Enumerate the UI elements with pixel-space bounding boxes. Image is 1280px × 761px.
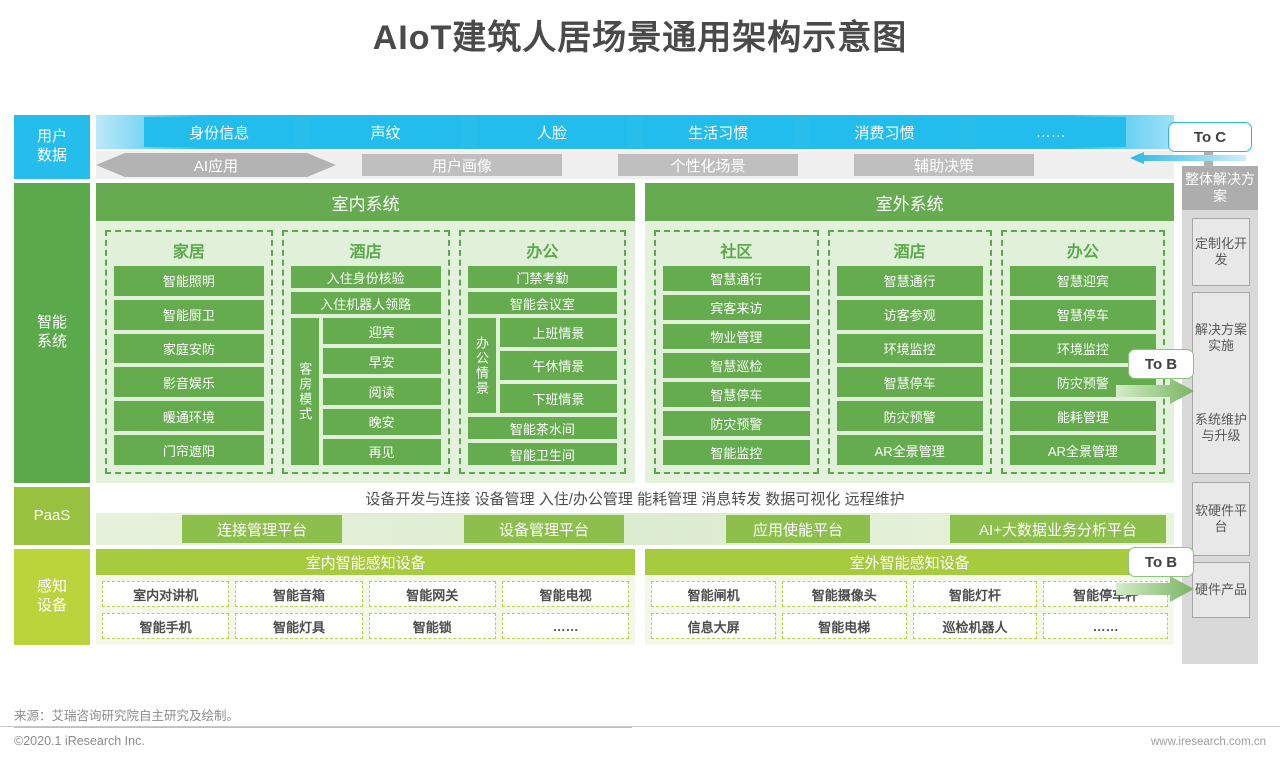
scenario-mode-label: 客房模式 [291,318,319,465]
solution-hardware-software-platform: 软硬件平台 [1192,482,1250,556]
rail-sys-line1: 智能 [37,314,67,333]
smart-system-group: 室内系统家居智能照明智能厨卫家庭安防影音娱乐暖通环境门帘遮阳酒店入住身份核验入住… [96,183,635,483]
user-data-chip: 声纹 [310,117,460,147]
sensing-group-header: 室内智能感知设备 [96,549,635,575]
scenario-item: 入住身份核验 [291,266,441,288]
scenario-title: 办公 [468,236,618,266]
sensing-device: 室内对讲机 [102,581,229,607]
sensing-device: 智能摄像头 [782,581,907,607]
rail-sys-line2: 系统 [37,333,67,352]
to-b-upper-badge[interactable]: To B [1128,349,1194,379]
scenario-mode-item: 早安 [323,348,441,374]
rail-sense-line1: 感知 [37,578,67,597]
scenario-item: 智能厨卫 [114,300,264,330]
scenario-box: 酒店智慧通行访客参观环境监控智慧停车防灾预警AR全景管理 [828,230,992,474]
to-b-upper-arrow-icon [1116,378,1194,404]
scenario-item: 能耗管理 [1010,401,1156,431]
sensing-device: 智能音箱 [235,581,362,607]
paas-platform: 应用使能平台 [726,515,870,543]
sensing-device: 智能电梯 [782,613,907,639]
scenario-mode-item: 阅读 [323,378,441,404]
sensing-device: 智能灯杆 [913,581,1038,607]
scenario-mode-item-list: 迎宾早安阅读晚安再见 [323,318,441,465]
layer-rail-sensing: 感知 设备 [14,549,90,645]
sensing-device-layer: 室内智能感知设备室内对讲机智能音箱智能网关智能电视智能手机智能灯具智能锁……室外… [96,549,1174,645]
solution-implementation: 解决方案实施 [1193,293,1249,383]
scenario-mode-row: 客房模式迎宾早安阅读晚安再见 [291,318,441,465]
user-data-chip: 消费习惯 [809,117,959,147]
sensing-device: 智能锁 [369,613,496,639]
ai-application-diamond: AI应用 [96,153,336,177]
scenario-mode-item: 午休情景 [500,351,618,380]
user-data-chip: 生活习惯 [643,117,793,147]
scenario-box: 家居智能照明智能厨卫家庭安防影音娱乐暖通环境门帘遮阳 [105,230,273,474]
scenario-item: AR全景管理 [1010,435,1156,465]
smart-system-group-body: 家居智能照明智能厨卫家庭安防影音娱乐暖通环境门帘遮阳酒店入住身份核验入住机器人领… [96,221,635,483]
to-b-upper-label: To B [1145,356,1177,373]
scenario-mode-row: 办公情景上班情景午休情景下班情景 [468,318,618,413]
scenario-item: 家庭安防 [114,334,264,364]
rail-user-line1: 用户 [37,128,67,147]
smart-system-group-header: 室外系统 [645,183,1174,221]
sensing-device-grid: 智能闸机智能摄像头智能灯杆智能停车杆信息大屏智能电梯巡检机器人…… [645,575,1174,645]
sensing-device-grid: 室内对讲机智能音箱智能网关智能电视智能手机智能灯具智能锁…… [96,575,635,645]
sensing-device: …… [1043,613,1168,639]
scenario-item: 智慧停车 [837,367,983,397]
scenario-item: 入住机器人领路 [291,292,441,314]
scenario-item: 环境监控 [837,334,983,364]
scenario-box: 社区智慧通行宾客来访物业管理智慧巡检智慧停车防灾预警智能监控 [654,230,818,474]
solution-custom-development: 定制化开发 [1192,218,1250,286]
page-title: AIoT建筑人居场景通用架构示意图 [0,10,1280,59]
scenario-item: 影音娱乐 [114,367,264,397]
layer-rail-user-data: 用户 数据 [14,115,90,179]
paas-platform: AI+大数据业务分析平台 [950,515,1166,543]
scenario-title: 办公 [1010,236,1156,266]
scenario-mode-item: 上班情景 [500,318,618,347]
scenario-mode-item: 晚安 [323,409,441,435]
scenario-item: AR全景管理 [837,435,983,465]
user-data-chip: …… [976,117,1126,147]
scenario-item: 物业管理 [663,324,809,349]
solution-rail-header: 整体解决方案 [1182,166,1258,210]
layer-rail-smart-system: 智能 系统 [14,183,90,483]
sensing-device: 巡检机器人 [913,613,1038,639]
copyright-text: ©2020.1 iResearch Inc. [14,734,145,748]
scenario-item: 智能卫生间 [468,443,618,465]
scenario-item: 智慧停车 [1010,300,1156,330]
user-data-chip: 人脸 [477,117,627,147]
ai-application-chip: 用户画像 [362,154,562,176]
scenario-item: 门帘遮阳 [114,435,264,465]
architecture-diagram: 用户 数据 智能 系统 PaaS 感知 设备 身份信息声纹人脸生活习惯消费习惯…… [14,115,1174,670]
ai-application-chip: 辅助决策 [854,154,1034,176]
scenario-box: 酒店入住身份核验入住机器人领路客房模式迎宾早安阅读晚安再见 [282,230,450,474]
scenario-item-list: 门禁考勤智能会议室办公情景上班情景午休情景下班情景智能茶水间智能卫生间 [468,266,618,465]
footer-divider [0,726,1280,727]
to-b-lower-arrow-icon [1116,576,1194,602]
scenario-mode-item-list: 上班情景午休情景下班情景 [500,318,618,413]
scenario-title: 酒店 [837,236,983,266]
to-c-label: To C [1194,129,1226,146]
sensing-device: 智能网关 [369,581,496,607]
ai-application-row: AI应用用户画像个性化场景辅助决策 [96,151,1174,179]
scenario-mode-label: 办公情景 [468,318,496,413]
paas-platform: 设备管理平台 [464,515,624,543]
sensing-device: 智能手机 [102,613,229,639]
scenario-item: 宾客来访 [663,295,809,320]
paas-capabilities-text: 设备开发与连接 设备管理 入住/办公管理 能耗管理 消息转发 数据可视化 远程维… [96,487,1174,513]
smart-system-group-body: 社区智慧通行宾客来访物业管理智慧巡检智慧停车防灾预警智能监控酒店智慧通行访客参观… [645,221,1174,483]
to-c-arrow-icon [1130,152,1246,164]
to-c-badge[interactable]: To C [1168,122,1252,152]
scenario-item: 智慧停车 [663,382,809,407]
scenario-item: 智慧通行 [837,266,983,296]
scenario-mode-item: 再见 [323,439,441,465]
scenario-box: 办公门禁考勤智能会议室办公情景上班情景午休情景下班情景智能茶水间智能卫生间 [459,230,627,474]
solution-implementation-group: 解决方案实施 系统维护与升级 [1192,292,1250,474]
sensing-group: 室内智能感知设备室内对讲机智能音箱智能网关智能电视智能手机智能灯具智能锁…… [96,549,635,645]
scenario-item: 智能监控 [663,440,809,465]
source-note: 来源：艾瑞咨询研究院自主研究及绘制。 [14,705,632,728]
scenario-item-list: 智慧通行宾客来访物业管理智慧巡检智慧停车防灾预警智能监控 [663,266,809,465]
smart-system-group: 室外系统社区智慧通行宾客来访物业管理智慧巡检智慧停车防灾预警智能监控酒店智慧通行… [645,183,1174,483]
scenario-item: 门禁考勤 [468,266,618,288]
smart-system-group-header: 室内系统 [96,183,635,221]
scenario-item: 智慧迎宾 [1010,266,1156,296]
sensing-group: 室外智能感知设备智能闸机智能摄像头智能灯杆智能停车杆信息大屏智能电梯巡检机器人…… [645,549,1174,645]
scenario-item: 智慧通行 [663,266,809,291]
paas-platform-list: 连接管理平台设备管理平台应用使能平台AI+大数据业务分析平台 [96,513,1174,545]
scenario-item: 智能茶水间 [468,417,618,439]
scenario-title: 酒店 [291,236,441,266]
smart-system-layer: 室内系统家居智能照明智能厨卫家庭安防影音娱乐暖通环境门帘遮阳酒店入住身份核验入住… [96,183,1174,483]
sensing-device: 智能闸机 [651,581,776,607]
rail-user-line2: 数据 [37,147,67,166]
rail-paas-label: PaaS [34,507,71,526]
sensing-group-header: 室外智能感知设备 [645,549,1174,575]
ai-application-chip: 个性化场景 [618,154,798,176]
scenario-item: 智慧巡检 [663,353,809,378]
user-data-chip: 身份信息 [144,117,294,147]
solution-maintenance: 系统维护与升级 [1193,383,1249,473]
solution-hardware-product: 硬件产品 [1192,562,1250,618]
sensing-device: 信息大屏 [651,613,776,639]
sensing-device: …… [502,613,629,639]
scenario-mode-item: 下班情景 [500,384,618,413]
to-b-lower-label: To B [1145,554,1177,571]
user-data-chip-list: 身份信息声纹人脸生活习惯消费习惯…… [96,115,1174,149]
to-b-lower-badge[interactable]: To B [1128,547,1194,577]
website-url: www.iresearch.com.cn [1151,736,1266,748]
paas-platform: 连接管理平台 [182,515,342,543]
rail-sense-line2: 设备 [37,597,67,616]
scenario-title: 家居 [114,236,264,266]
scenario-item: 防灾预警 [663,411,809,436]
scenario-item: 智能会议室 [468,292,618,314]
scenario-mode-item: 迎宾 [323,318,441,344]
scenario-item-list: 智慧通行访客参观环境监控智慧停车防灾预警AR全景管理 [837,266,983,465]
scenario-title: 社区 [663,236,809,266]
scenario-item-list: 入住身份核验入住机器人领路客房模式迎宾早安阅读晚安再见 [291,266,441,465]
scenario-item: 访客参观 [837,300,983,330]
scenario-item: 暖通环境 [114,401,264,431]
solution-rail-header-label: 整体解决方案 [1182,171,1258,205]
sensing-device: 智能电视 [502,581,629,607]
scenario-item: 智能照明 [114,266,264,296]
scenario-item-list: 智能照明智能厨卫家庭安防影音娱乐暖通环境门帘遮阳 [114,266,264,465]
scenario-item: 防灾预警 [837,401,983,431]
layer-rail-paas: PaaS [14,487,90,545]
sensing-device: 智能灯具 [235,613,362,639]
